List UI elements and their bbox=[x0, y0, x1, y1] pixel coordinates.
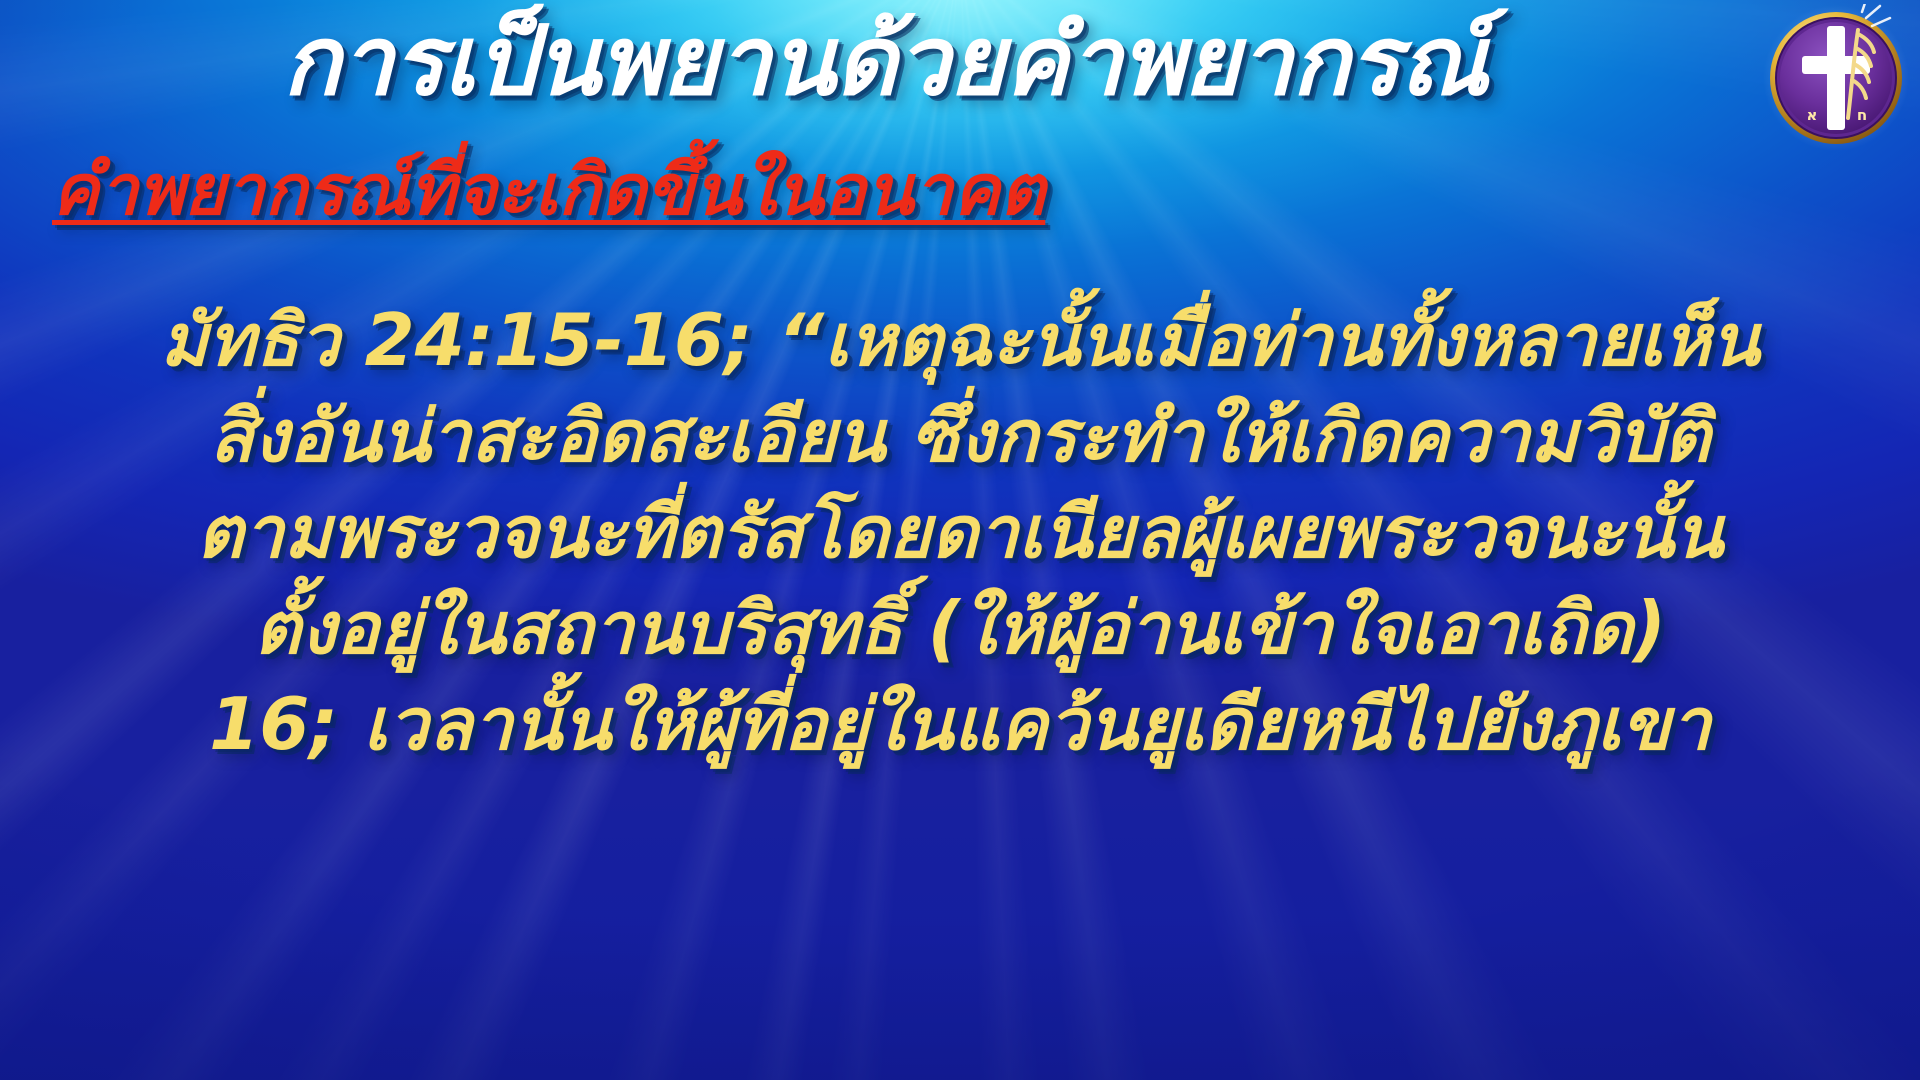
emblem-svg: א ח bbox=[1762, 4, 1910, 152]
presentation-slide: การเป็นพยานด้วยคำพยากรณ์ คำพยากรณ์ที่จะเ… bbox=[0, 0, 1920, 1080]
verse-line: สิ่งอันน่าสะอิดสะเอียน ซึ่งกระทำให้เกิดค… bbox=[0, 388, 1920, 484]
verse-line: ตามพระวจนะที่ตรัสโดยดาเนียลผู้เผยพระวจนะ… bbox=[0, 484, 1920, 580]
verse-line: มัทธิว 24:15-16; “เหตุฉะนั้นเมื่อท่านทั้… bbox=[0, 292, 1920, 388]
verse-line: 16; เวลานั้นให้ผู้ที่อยู่ในแคว้นยูเดียหน… bbox=[0, 676, 1920, 772]
hebrew-letter-left: א bbox=[1807, 106, 1818, 124]
hebrew-letter-right: ח bbox=[1857, 106, 1867, 124]
verse-line: ตั้งอยู่ในสถานบริสุทธิ์ (ให้ผู้อ่านเข้าใ… bbox=[0, 580, 1920, 676]
slide-title: การเป็นพยานด้วยคำพยากรณ์ bbox=[0, 8, 1770, 116]
scripture-verse-block: มัทธิว 24:15-16; “เหตุฉะนั้นเมื่อท่านทั้… bbox=[0, 292, 1920, 772]
church-cross-emblem-logo: א ח bbox=[1762, 4, 1910, 152]
slide-content: การเป็นพยานด้วยคำพยากรณ์ คำพยากรณ์ที่จะเ… bbox=[0, 0, 1920, 1080]
slide-subtitle: คำพยากรณ์ที่จะเกิดขึ้นในอนาคต bbox=[52, 152, 1045, 229]
